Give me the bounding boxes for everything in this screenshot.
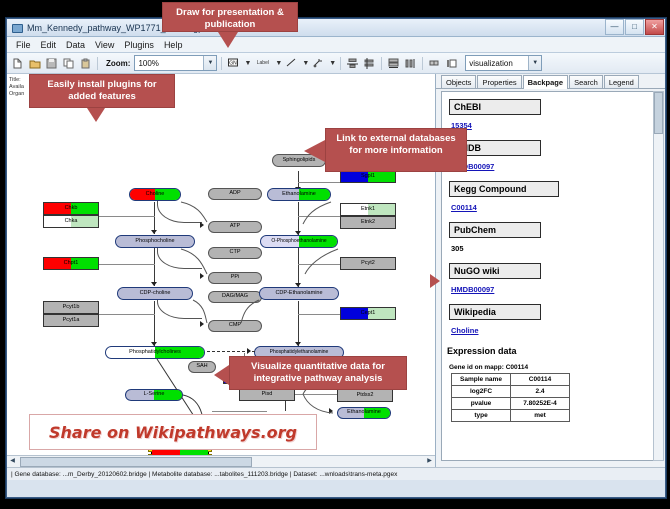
table-row: type met [452, 410, 570, 422]
node-label: Etnk1 [361, 207, 375, 213]
open-folder-icon[interactable] [27, 56, 42, 71]
menu-file[interactable]: File [11, 39, 36, 51]
chevron-down-icon[interactable]: ▼ [329, 60, 336, 67]
edge-cdpethn-pte [298, 301, 299, 346]
expr-value: C00114 [511, 374, 570, 386]
edge-pisd [212, 411, 267, 412]
meta-available-label: Availa [9, 84, 24, 91]
menu-bar: File Edit Data View Plugins Help [7, 37, 665, 53]
toolbar: Zoom: 100% ▼ GN ▼ Label ▼ ▼ ▼ [7, 53, 665, 74]
db-value-pubchem: 305 [451, 244, 464, 253]
visualization-combo[interactable]: visualization ▼ [465, 55, 542, 71]
edge-pcyt2 [298, 264, 340, 265]
new-file-icon[interactable] [10, 56, 25, 71]
node-label: Etnk2 [361, 220, 375, 226]
expression-data-heading: Expression data [447, 346, 653, 356]
svg-text:GN: GN [230, 61, 238, 67]
label-tool-icon[interactable]: Label [253, 56, 272, 71]
node-o-phosphoethanolamine[interactable]: O-Phosphoethanolamine [260, 235, 338, 248]
toolbar-separator [381, 57, 382, 70]
tab-objects[interactable]: Objects [441, 75, 476, 88]
save-icon[interactable] [44, 56, 59, 71]
node-l-serine-left[interactable]: L-Serine [125, 389, 183, 401]
node-label: Chpt1 [64, 261, 79, 267]
main-area: Title: Availa Organ C [7, 74, 665, 467]
group-tool-icon[interactable] [427, 56, 442, 71]
table-row: Sample name C00114 [452, 374, 570, 386]
node-label: Chkb [65, 206, 78, 212]
annotation-plugins: Easily install plugins for added feature… [29, 74, 175, 108]
canvas-hscroll-thumb[interactable] [20, 457, 252, 467]
expr-key: pvalue [452, 398, 511, 410]
node-ptdss2[interactable]: Ptdss2 [337, 389, 393, 402]
toolbar-separator [97, 57, 98, 70]
edge-chpt1 [99, 264, 155, 265]
node-cmp[interactable]: CMP [208, 320, 262, 332]
edge-chk-choline [99, 216, 155, 217]
chevron-down-icon[interactable]: ▼ [203, 56, 216, 70]
db-header-nugo: NuGO wiki [449, 263, 541, 279]
side-panel-scrollbar[interactable] [653, 91, 664, 461]
close-button[interactable]: ✕ [645, 19, 664, 35]
menu-data[interactable]: Data [61, 39, 90, 51]
anchor-tool-icon[interactable] [311, 56, 326, 71]
node-sah[interactable]: SAH [188, 361, 216, 373]
tab-properties[interactable]: Properties [477, 75, 521, 88]
arrowhead [200, 222, 204, 228]
node-dagmag[interactable]: DAG/MAG [208, 291, 262, 303]
menu-edit[interactable]: Edit [36, 39, 62, 51]
canvas-hscrollbar[interactable]: ◀ ▶ [7, 455, 435, 467]
node-label: Choline [146, 192, 165, 198]
window-controls: — □ ✕ [605, 19, 664, 35]
node-ppi[interactable]: PPi [208, 272, 262, 284]
line-tool-icon[interactable] [284, 56, 299, 71]
node-label: Pisd [262, 392, 273, 398]
minimize-button[interactable]: — [605, 19, 624, 35]
arrowhead [329, 408, 333, 414]
expr-key: log2FC [452, 386, 511, 398]
title-bar: Mm_Kennedy_pathway_WP1771_45176.gpml — □… [7, 19, 665, 37]
maximize-button[interactable]: □ [625, 19, 644, 35]
chevron-down-icon[interactable]: ▼ [275, 60, 282, 67]
toolbar-separator [340, 57, 341, 70]
menu-view[interactable]: View [90, 39, 119, 51]
backpage-content: ChEBI 15354 HMDB HMDB00097 Kegg Compound… [441, 91, 654, 461]
chevron-down-icon[interactable]: ▼ [302, 60, 309, 67]
pathway-metadata: Title: Availa Organ [9, 77, 24, 98]
edge-phosphocholine-cdpcholine [154, 248, 155, 286]
expression-table: Sample name C00114 log2FC 2.4 pvalue 7.8… [451, 373, 570, 422]
scroll-left-arrow[interactable]: ◀ [7, 456, 18, 466]
tab-backpage[interactable]: Backpage [523, 75, 568, 89]
node-label: O-Phosphoethanolamine [271, 239, 326, 244]
db-link-nugo[interactable]: HMDB00097 [451, 285, 494, 294]
node-label: Sgpl1 [361, 174, 375, 180]
node-label: Pcyt2 [361, 261, 375, 267]
node-label: L-Serine [144, 392, 165, 398]
pathvisio-window: Mm_Kennedy_pathway_WP1771_45176.gpml — □… [6, 18, 666, 498]
chevron-down-icon[interactable]: ▼ [528, 56, 541, 70]
node-label: Ethanolamine [347, 410, 381, 416]
arrowhead [151, 230, 157, 234]
annotation-share: Share on Wikipathways.org [29, 414, 317, 450]
expression-gene-id: Gene id on mapp: C00114 [449, 364, 653, 371]
node-ethanolamine[interactable]: Ethanolamine [267, 188, 331, 201]
db-header-wikipedia: Wikipedia [449, 304, 541, 320]
annotation-visualize-arrow [214, 365, 229, 385]
order-tool-icon[interactable] [444, 56, 459, 71]
node-atp[interactable]: ATP [208, 221, 262, 233]
stack-tool-icon[interactable] [386, 56, 401, 71]
node-label: CMP [229, 323, 241, 329]
edge-cept1 [298, 314, 340, 315]
db-header-pubchem: PubChem [449, 222, 541, 238]
node-cept1[interactable]: Cept1 [340, 307, 396, 320]
zoom-combo[interactable]: 100% ▼ [134, 55, 217, 71]
arrowhead [151, 282, 157, 286]
node-ctp[interactable]: CTP [208, 247, 262, 259]
distribute-tool-icon[interactable] [362, 56, 377, 71]
node-etnk1[interactable]: Etnk1 [340, 203, 396, 216]
annotation-link: Link to external databases for more info… [325, 128, 467, 172]
edge-pethn-cdpethn [298, 248, 299, 287]
visualization-value: visualization [469, 59, 513, 68]
expr-value: 2.4 [511, 386, 570, 398]
annotation-link-arrow [304, 140, 325, 162]
node-label: CTP [230, 250, 241, 256]
annotation-visualize: Visualize quantitative data for integrat… [229, 356, 407, 390]
annotation-link-arrow-tail [430, 274, 440, 288]
edge-cdpcholine-ptdcholine [154, 301, 155, 346]
node-label: CDP-choline [140, 291, 171, 297]
edge-sgpl1 [298, 182, 340, 183]
node-phosphatidylcholines[interactable]: Phosphatidylcholines [105, 346, 205, 359]
node-label: CDP-Ethanolamine [275, 291, 322, 297]
node-chpt1[interactable]: Chpt1 [43, 257, 99, 270]
node-adp[interactable]: ADP [208, 188, 262, 200]
node-cdp-ethanolamine[interactable]: CDP-Ethanolamine [259, 287, 339, 300]
menu-help[interactable]: Help [159, 39, 188, 51]
db-header-kegg: Kegg Compound [449, 181, 559, 197]
node-label: Phosphatidylcholines [129, 350, 181, 356]
side-panel-scroll-thumb[interactable] [654, 92, 663, 134]
node-label: Chka [65, 219, 78, 225]
side-panel: Objects Properties Backpage Search Legen… [436, 74, 665, 467]
node-label: Phosphocholine [135, 239, 174, 245]
node-label: Cept1 [361, 311, 376, 317]
expr-value: 7.80252E-4 [511, 398, 570, 410]
node-chkb[interactable]: Chkb [43, 202, 99, 215]
node-label: Pcyt1a [63, 318, 80, 324]
db-header-chebi: ChEBI [449, 99, 541, 115]
node-etnk2[interactable]: Etnk2 [340, 216, 396, 229]
zoom-label: Zoom: [106, 59, 130, 68]
node-label: Pcyt1b [63, 305, 80, 311]
menu-plugins[interactable]: Plugins [119, 39, 159, 51]
node-pcyt1b[interactable]: Pcyt1b [43, 301, 99, 314]
meta-title-label: Title: [9, 77, 24, 84]
paste-icon[interactable] [78, 56, 93, 71]
annotation-plugins-arrow [87, 108, 105, 122]
arrowhead [200, 273, 204, 279]
toolbar-separator [221, 57, 222, 70]
align-tool-icon[interactable] [345, 56, 360, 71]
annotation-draw-arrow [218, 32, 238, 48]
copy-icon[interactable] [61, 56, 76, 71]
node-pcyt2[interactable]: Pcyt2 [340, 257, 396, 270]
chevron-down-icon[interactable]: ▼ [244, 60, 251, 67]
node-ethanolamine-right[interactable]: Ethanolamine [337, 407, 391, 419]
node-cdp-choline[interactable]: CDP-choline [117, 287, 193, 300]
edge-etnk [298, 216, 340, 217]
db-link-wikipedia[interactable]: Choline [451, 326, 479, 335]
node-choline-top[interactable]: Choline [129, 188, 181, 201]
node-label: ADP [229, 191, 240, 197]
node-label: Ptdss2 [357, 393, 374, 399]
app-icon [11, 22, 23, 33]
node-label: Ethanolamine [282, 192, 316, 198]
annotation-share-text: Share on Wikipathways.org [49, 423, 297, 442]
node-label: Phosphatidylethanolamine [270, 350, 329, 355]
node-label: PPi [231, 275, 240, 281]
arrowhead [200, 321, 204, 327]
status-text: | Gene database: ...m_Derby_20120602.bri… [7, 471, 397, 478]
side-panel-tabs: Objects Properties Backpage Search Legen… [436, 74, 665, 89]
table-row: pvalue 7.80252E-4 [452, 398, 570, 410]
meta-organism-label: Organ [9, 91, 24, 98]
scroll-right-arrow[interactable]: ▶ [424, 456, 435, 466]
node-pcyt1a[interactable]: Pcyt1a [43, 314, 99, 327]
tab-legend[interactable]: Legend [604, 75, 639, 88]
zoom-value: 100% [138, 59, 158, 68]
node-label: SAH [196, 364, 207, 370]
db-link-kegg[interactable]: C00114 [451, 203, 477, 212]
datanode-tool-icon[interactable]: GN [226, 56, 241, 71]
status-bar: | Gene database: ...m_Derby_20120602.bri… [7, 467, 665, 480]
expr-value: met [511, 410, 570, 422]
node-label: DAG/MAG [222, 294, 248, 300]
expr-key: Sample name [452, 374, 511, 386]
edge-pcyt1 [99, 314, 155, 315]
table-row: log2FC 2.4 [452, 386, 570, 398]
tab-search[interactable]: Search [569, 75, 603, 88]
annotation-draw: Draw for presentation & publication [162, 2, 298, 32]
node-label: ATP [230, 224, 240, 230]
toolbar-separator [422, 57, 423, 70]
expr-key: type [452, 410, 511, 422]
node-chka[interactable]: Chka [43, 215, 99, 228]
arrowhead [247, 348, 251, 354]
size-tool-icon[interactable] [403, 56, 418, 71]
node-phosphocholine[interactable]: Phosphocholine [115, 235, 195, 248]
